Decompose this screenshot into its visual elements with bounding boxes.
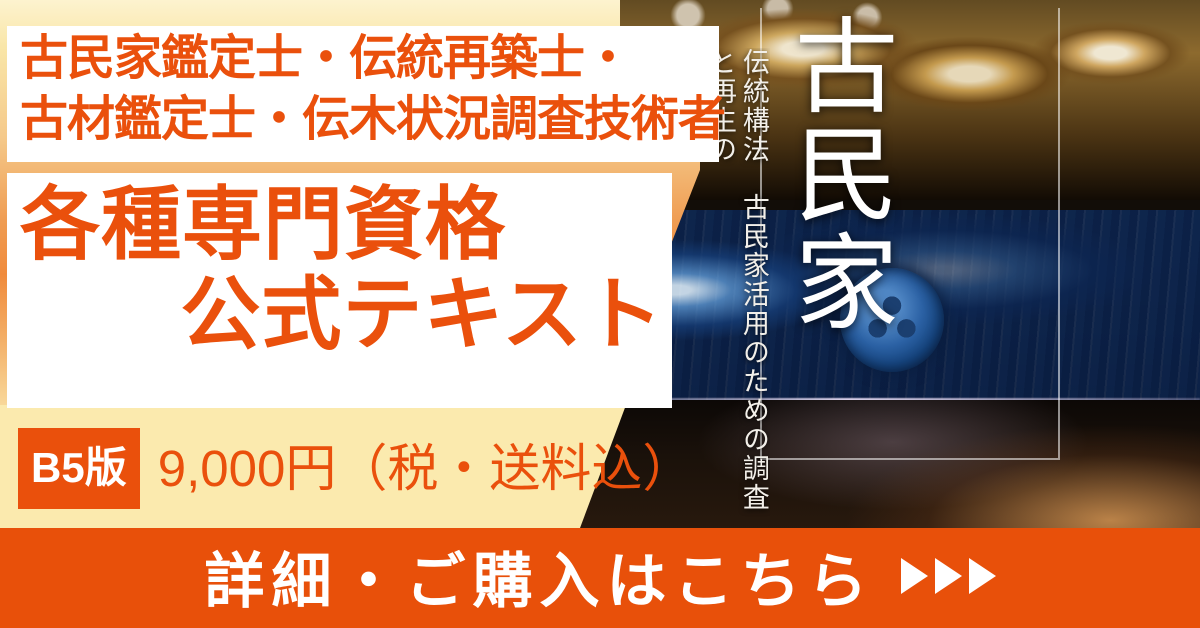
book-title-vertical: 古民家 (770, 12, 901, 336)
subheadline-line-1: 各種専門資格 (14, 180, 674, 270)
headline: 古民家鑑定士・伝統再築士・ 古材鑑定士・伝木状況調査技術者 (20, 30, 720, 152)
subheadline-line-2: 公式テキスト (14, 270, 674, 360)
cta-label: 詳細・ご購入はこちら (205, 533, 875, 620)
triangle-right-icon (969, 558, 996, 594)
triangle-right-icon (935, 558, 962, 594)
triangle-right-icon (901, 558, 928, 594)
subheadline: 各種専門資格 公式テキスト (14, 180, 674, 359)
price-row: B5版 9,000円（税・送料込） (18, 428, 693, 509)
headline-line-2: 古材鑑定士・伝木状況調査技術者 (20, 91, 720, 152)
headline-line-1: 古民家鑑定士・伝統再築士・ (20, 30, 720, 91)
promo-banner: 古民家 伝統構法 古民家活用のための調査と再生の 古民家鑑定士・伝統再築士・ 古… (0, 0, 1200, 628)
cta-arrows (901, 558, 996, 594)
format-badge: B5版 (18, 428, 140, 509)
cta-inner: 詳細・ご購入はこちら (205, 533, 996, 620)
cta-bar[interactable]: 詳細・ご購入はこちら (0, 528, 1200, 628)
price-amount: 9,000円（税・送料込） (158, 443, 694, 494)
